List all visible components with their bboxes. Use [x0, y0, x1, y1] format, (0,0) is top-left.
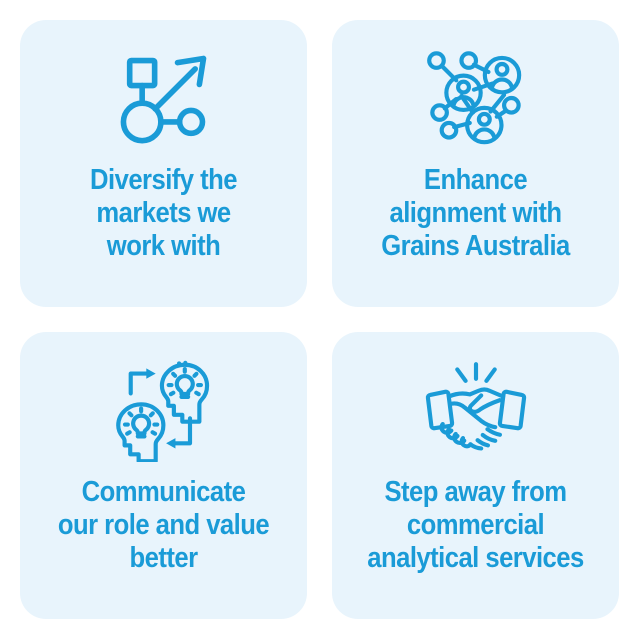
card-label: Communicate our role and value better — [26, 476, 301, 575]
card-step-away-commercial[interactable]: Step away from commercial analytical ser… — [332, 332, 619, 619]
two-heads-lightbulb-exchange-icon — [112, 358, 216, 462]
network-growth-arrow-icon — [112, 46, 216, 150]
priority-card-grid: Diversify the markets we work with — [0, 0, 640, 640]
handshake-icon — [424, 358, 528, 462]
card-communicate-value[interactable]: Communicate our role and value better — [20, 332, 307, 619]
card-label: Step away from commercial analytical ser… — [338, 476, 613, 575]
card-enhance-alignment[interactable]: Enhance alignment with Grains Australia — [332, 20, 619, 307]
card-label: Diversify the markets we work with — [26, 164, 301, 263]
card-diversify-markets[interactable]: Diversify the markets we work with — [20, 20, 307, 307]
card-label: Enhance alignment with Grains Australia — [338, 164, 613, 263]
people-network-icon — [424, 46, 528, 150]
